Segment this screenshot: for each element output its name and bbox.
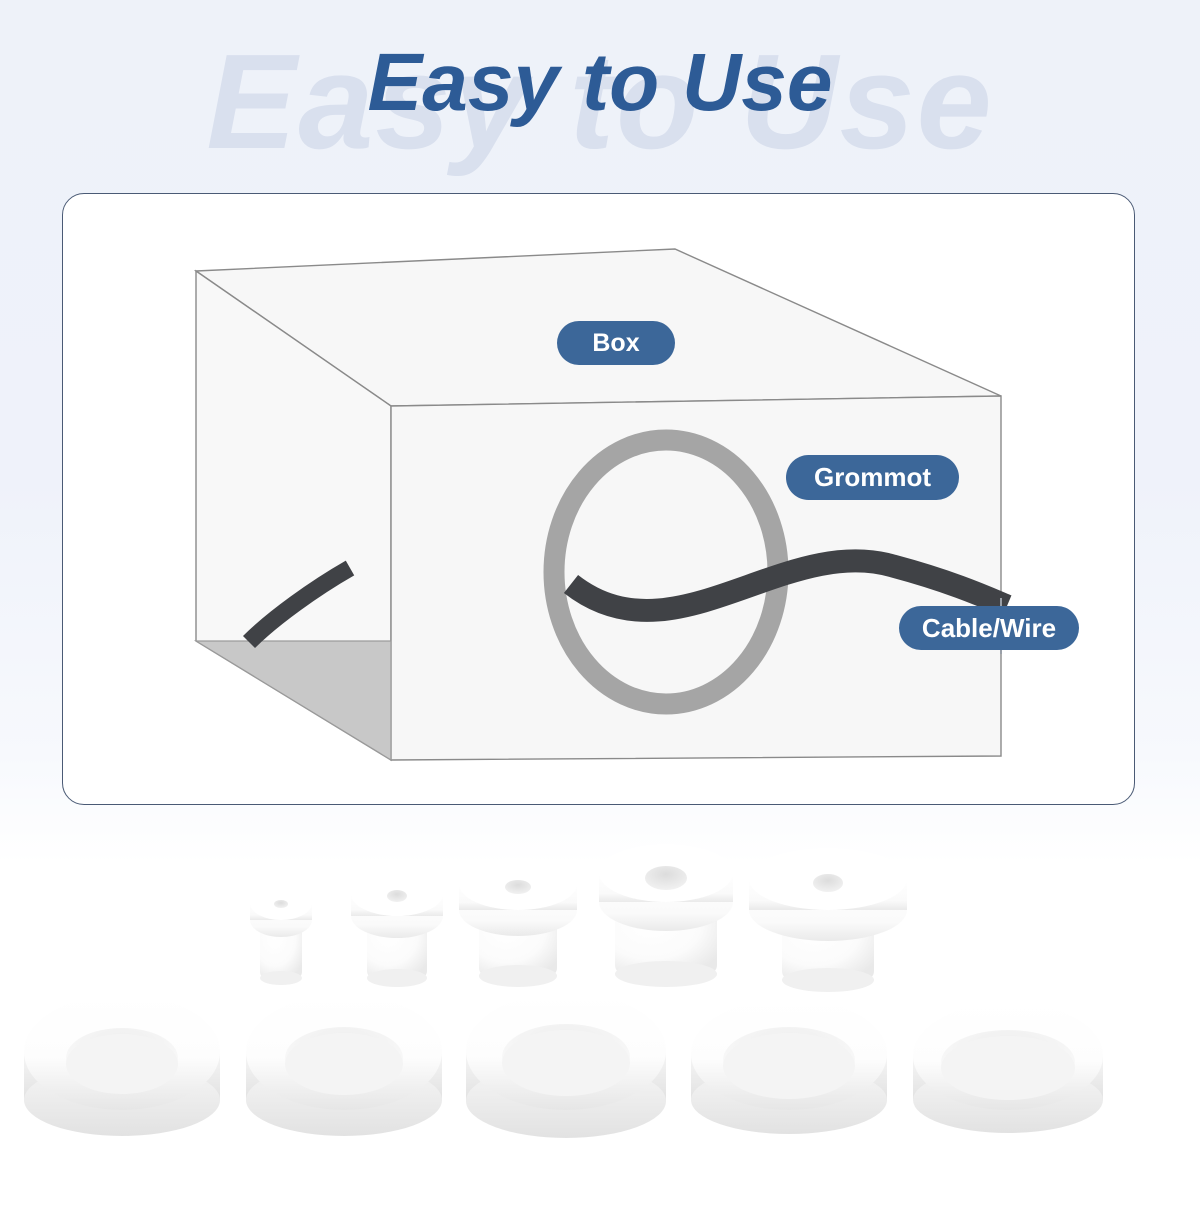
product-ring-2: [246, 994, 442, 1136]
product-ring-5: [913, 1002, 1103, 1133]
product-plug-m: [459, 858, 577, 987]
box-diagram-svg: [63, 194, 1135, 805]
title-area: Easy to Use Easy to Use: [0, 0, 1200, 180]
product-ring-4: [691, 998, 887, 1134]
label-cable-wire[interactable]: Cable/Wire: [899, 606, 1079, 650]
products-svg: [0, 810, 1200, 1200]
diagram-panel: Box Grommot Cable/Wire: [62, 193, 1135, 805]
page-title: Easy to Use: [0, 36, 1200, 130]
box-base-shadow: [196, 641, 391, 760]
product-plug-l: [599, 844, 733, 987]
product-plug-s: [351, 872, 443, 987]
infographic-root: Easy to Use Easy to Use: [0, 0, 1200, 1200]
label-grommet[interactable]: Grommot: [786, 455, 959, 500]
product-ring-1: [24, 994, 220, 1136]
product-plug-xl: [749, 848, 907, 992]
product-ring-3: [466, 992, 666, 1138]
label-box[interactable]: Box: [557, 321, 675, 365]
product-plug-xs: [250, 886, 312, 985]
product-gallery: [0, 810, 1200, 1200]
